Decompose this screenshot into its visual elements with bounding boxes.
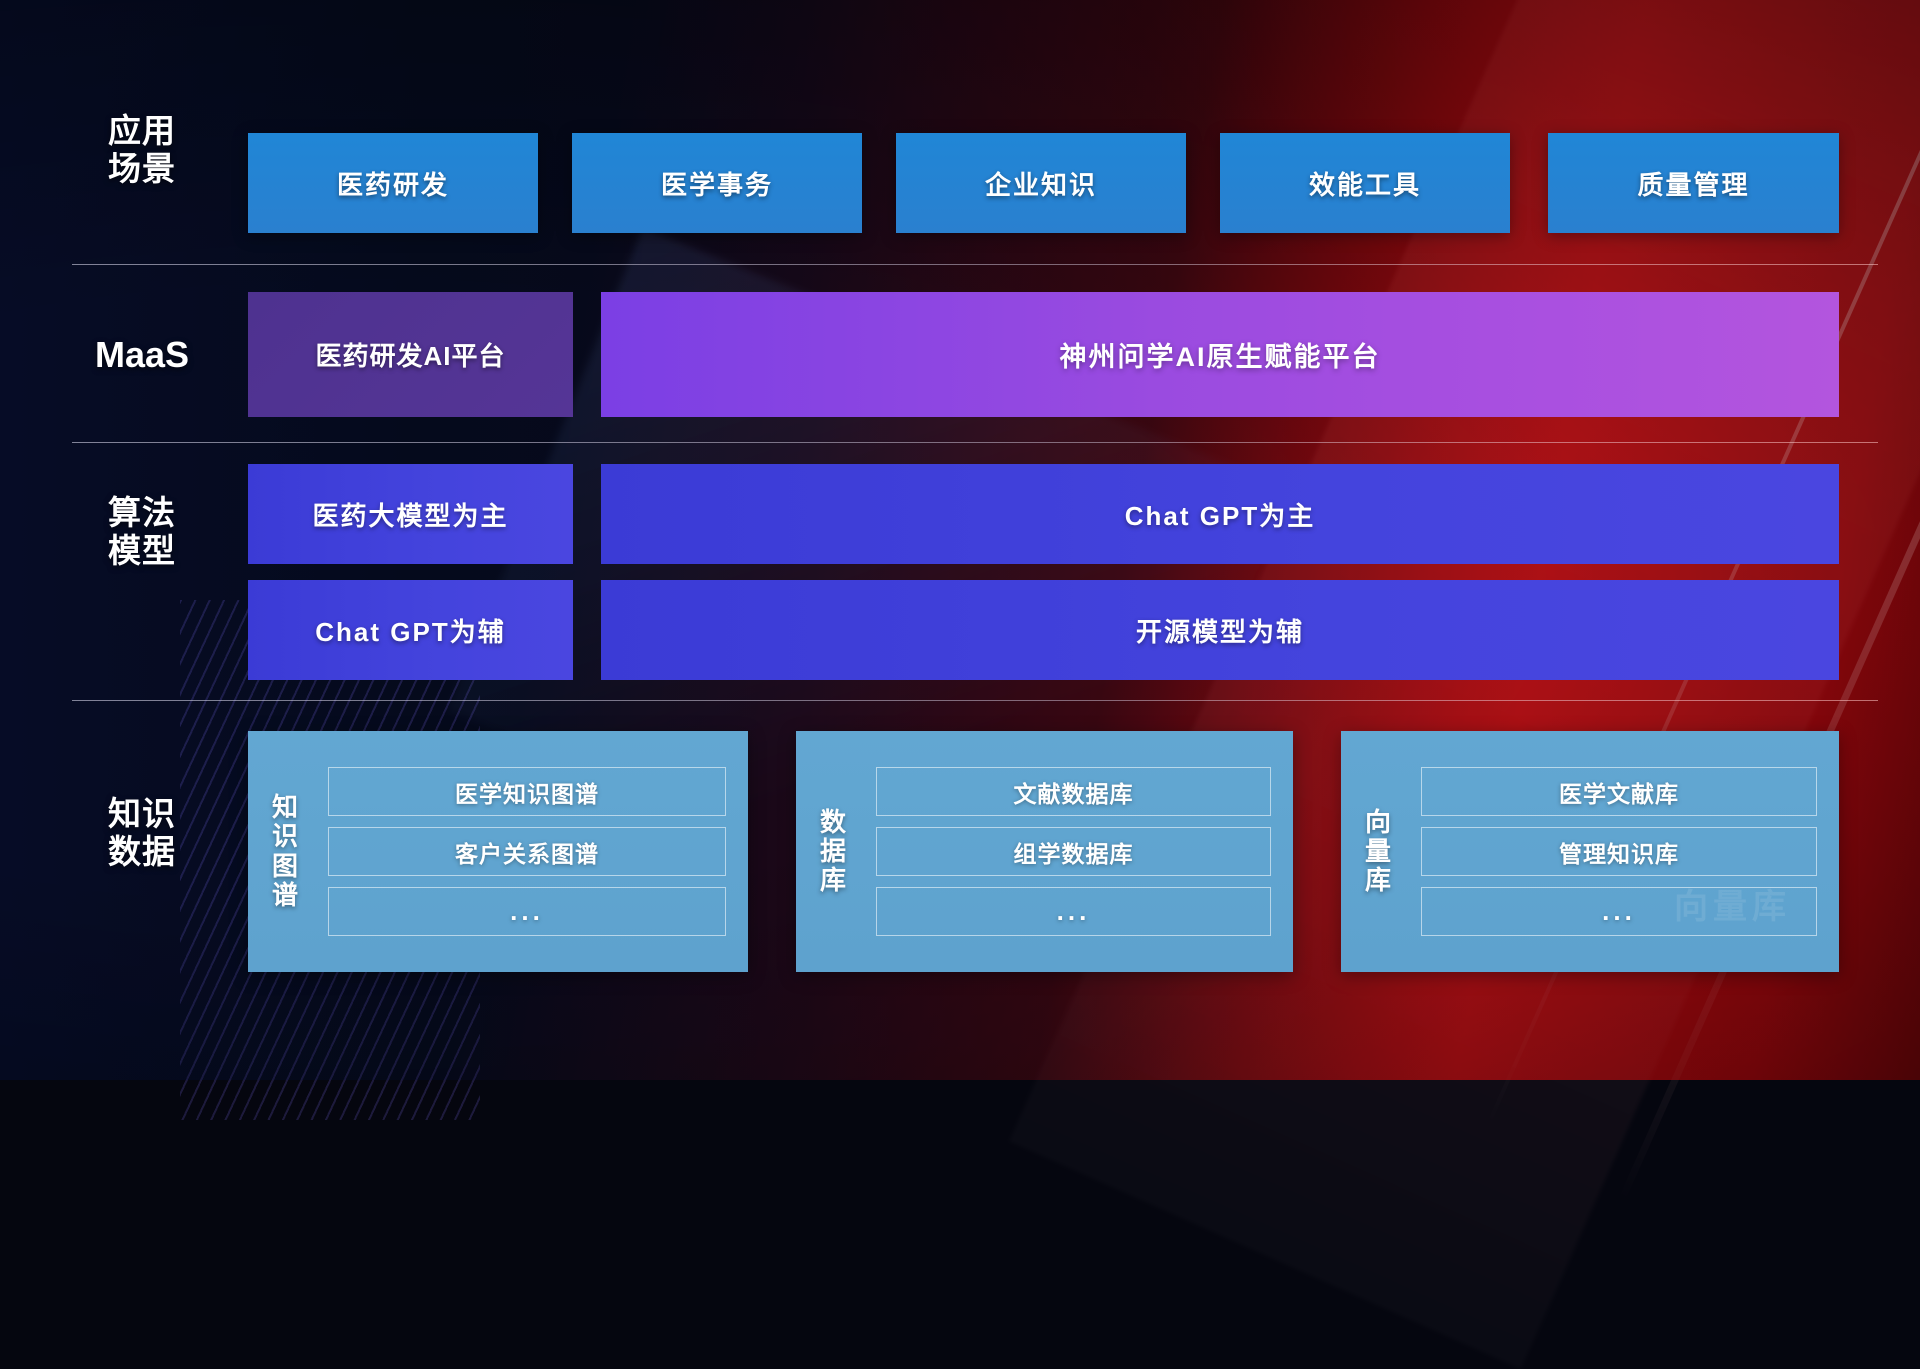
knowledge-item-label: 客户关系图谱 (455, 835, 599, 869)
row-label-knowledge: 知识 数据 (72, 795, 212, 872)
app-scenario-label: 医药研发 (337, 165, 449, 202)
knowledge-item-list: 文献数据库 组学数据库 ... (870, 731, 1293, 972)
knowledge-group-side-label: 数 据 库 (796, 731, 870, 972)
algorithm-box-right-bottom[interactable]: 开源模型为辅 (601, 580, 1839, 680)
algorithm-label: 医药大模型为主 (312, 496, 508, 533)
row-label-line: 应用 (72, 112, 212, 150)
row-label-application: 应用 场景 (72, 112, 212, 189)
knowledge-item-label: 管理知识库 (1559, 835, 1679, 869)
knowledge-item-more[interactable]: ... (328, 887, 726, 936)
knowledge-item-more[interactable]: ... (1421, 887, 1817, 936)
row-divider-1 (72, 264, 1878, 265)
row-label-line: MaaS (72, 334, 212, 376)
maas-platform-label: 神州问学AI原生赋能平台 (1060, 335, 1381, 374)
knowledge-item-list: 医学文献库 管理知识库 ... (1415, 731, 1839, 972)
knowledge-item-label: ... (1602, 896, 1636, 927)
knowledge-group-vector-store[interactable]: 向 量 库 医学文献库 管理知识库 ... 向量库 (1341, 731, 1839, 972)
side-label-char: 库 (820, 866, 846, 895)
knowledge-item-label: ... (1057, 896, 1091, 927)
knowledge-item-label: 组学数据库 (1014, 835, 1134, 869)
knowledge-item-label: 医学文献库 (1559, 775, 1679, 809)
knowledge-item[interactable]: 组学数据库 (876, 827, 1271, 876)
app-scenario-label: 医学事务 (661, 165, 773, 202)
knowledge-item[interactable]: 医学知识图谱 (328, 767, 726, 816)
layer-grid: 应用 场景 医药研发 医学事务 企业知识 效能工具 质量管理 MaaS 医药研发… (0, 0, 1920, 1080)
algorithm-label: Chat GPT为辅 (315, 612, 505, 649)
row-label-line: 算法 (72, 494, 212, 532)
app-scenario-box-1[interactable]: 医药研发 (248, 133, 538, 233)
knowledge-item-more[interactable]: ... (876, 887, 1271, 936)
row-label-line: 模型 (72, 532, 212, 570)
side-label-char: 图 (272, 852, 298, 881)
knowledge-item[interactable]: 医学文献库 (1421, 767, 1817, 816)
knowledge-item[interactable]: 管理知识库 (1421, 827, 1817, 876)
side-label-char: 量 (1365, 837, 1391, 866)
app-scenario-label: 质量管理 (1637, 165, 1749, 202)
app-scenario-box-3[interactable]: 企业知识 (896, 133, 1186, 233)
side-label-char: 识 (272, 822, 298, 851)
algorithm-box-left-bottom[interactable]: Chat GPT为辅 (248, 580, 573, 680)
side-label-char: 谱 (272, 881, 298, 910)
algorithm-box-left-top[interactable]: 医药大模型为主 (248, 464, 573, 564)
algorithm-label: Chat GPT为主 (1125, 496, 1315, 533)
algorithm-label: 开源模型为辅 (1136, 612, 1304, 649)
diagram-canvas: 应用 场景 医药研发 医学事务 企业知识 效能工具 质量管理 MaaS 医药研发… (0, 0, 1920, 1080)
row-label-line: 场景 (72, 150, 212, 188)
row-divider-3 (72, 700, 1878, 701)
knowledge-item-label: ... (510, 896, 544, 927)
knowledge-item-label: 医学知识图谱 (455, 775, 599, 809)
knowledge-item-list: 医学知识图谱 客户关系图谱 ... (322, 731, 748, 972)
side-label-char: 知 (272, 793, 298, 822)
maas-platform-label: 医药研发AI平台 (315, 336, 505, 373)
side-label-char: 据 (820, 837, 846, 866)
knowledge-group-database[interactable]: 数 据 库 文献数据库 组学数据库 ... (796, 731, 1293, 972)
side-label-char: 向 (1365, 808, 1391, 837)
row-label-line: 知识 (72, 795, 212, 833)
knowledge-item-label: 文献数据库 (1014, 775, 1134, 809)
knowledge-item[interactable]: 客户关系图谱 (328, 827, 726, 876)
side-label-char: 库 (1365, 866, 1391, 895)
app-scenario-box-4[interactable]: 效能工具 (1220, 133, 1510, 233)
maas-platform-box-right[interactable]: 神州问学AI原生赋能平台 (601, 292, 1839, 417)
maas-platform-box-left[interactable]: 医药研发AI平台 (248, 292, 573, 417)
app-scenario-box-5[interactable]: 质量管理 (1548, 133, 1839, 233)
app-scenario-label: 效能工具 (1309, 165, 1421, 202)
knowledge-group-knowledge-graph[interactable]: 知 识 图 谱 医学知识图谱 客户关系图谱 ... (248, 731, 748, 972)
side-label-char: 数 (820, 808, 846, 837)
row-label-maas: MaaS (72, 334, 212, 376)
knowledge-group-side-label: 知 识 图 谱 (248, 731, 322, 972)
app-scenario-box-2[interactable]: 医学事务 (572, 133, 862, 233)
row-divider-2 (72, 442, 1878, 443)
row-label-algorithm: 算法 模型 (72, 494, 212, 571)
row-label-line: 数据 (72, 833, 212, 871)
algorithm-box-right-top[interactable]: Chat GPT为主 (601, 464, 1839, 564)
knowledge-group-side-label: 向 量 库 (1341, 731, 1415, 972)
knowledge-item[interactable]: 文献数据库 (876, 767, 1271, 816)
app-scenario-label: 企业知识 (985, 165, 1097, 202)
